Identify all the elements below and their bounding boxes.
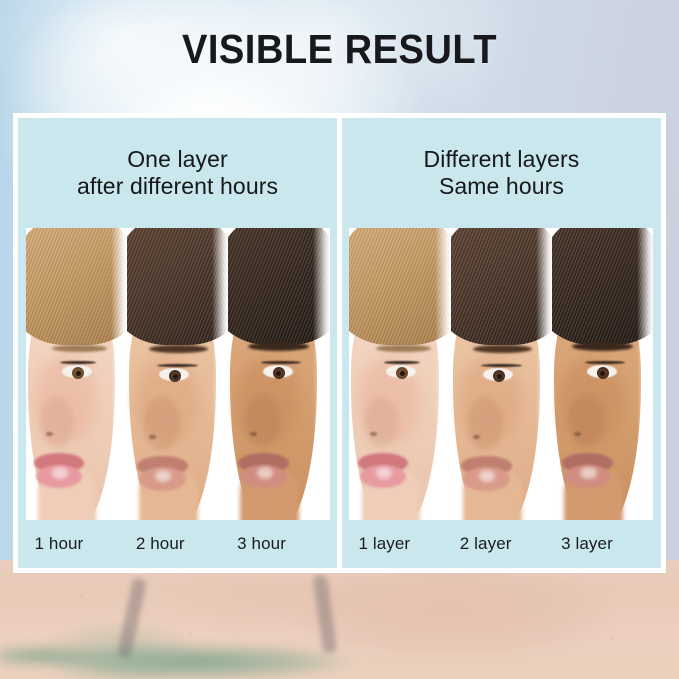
comparison-card: One layer after different hours bbox=[13, 113, 666, 573]
page-title: VISIBLE RESULT bbox=[24, 26, 655, 73]
face-photo-3-hour bbox=[228, 228, 329, 520]
caption-1-hour: 1 hour bbox=[26, 534, 127, 554]
photo-strip-left bbox=[26, 228, 330, 520]
photo-strip-wrapper-left: 1 hour 2 hour 3 hour bbox=[18, 228, 337, 568]
captions-left: 1 hour 2 hour 3 hour bbox=[26, 520, 330, 568]
sunbather-figure bbox=[150, 556, 610, 679]
photo-strip-right bbox=[349, 228, 653, 520]
panel-different-layers: Different layers Same hours bbox=[342, 118, 661, 568]
panel-header-one-layer: One layer after different hours bbox=[18, 118, 337, 228]
panel-header-line1: Different layers bbox=[424, 146, 580, 173]
captions-right: 1 layer 2 layer 3 layer bbox=[349, 520, 653, 568]
panel-one-layer: One layer after different hours bbox=[18, 118, 337, 568]
caption-2-layer: 2 layer bbox=[451, 534, 552, 554]
face-photo-2-hour bbox=[127, 228, 228, 520]
panel-header-different-layers: Different layers Same hours bbox=[342, 118, 661, 228]
panel-header-line2: Same hours bbox=[424, 173, 580, 200]
face-photo-1-hour bbox=[26, 228, 127, 520]
face-photo-1-layer bbox=[349, 228, 450, 520]
caption-3-layer: 3 layer bbox=[552, 534, 653, 554]
photo-strip-wrapper-right: 1 layer 2 layer 3 layer bbox=[342, 228, 661, 568]
panel-header-line1: One layer bbox=[77, 146, 278, 173]
caption-1-layer: 1 layer bbox=[349, 534, 450, 554]
face-photo-3-layer bbox=[552, 228, 653, 520]
panel-header-line2: after different hours bbox=[77, 173, 278, 200]
visible-result-infographic: VISIBLE RESULT One layer after different… bbox=[0, 0, 679, 679]
face-photo-2-layer bbox=[451, 228, 552, 520]
caption-3-hour: 3 hour bbox=[228, 534, 329, 554]
caption-2-hour: 2 hour bbox=[127, 534, 228, 554]
